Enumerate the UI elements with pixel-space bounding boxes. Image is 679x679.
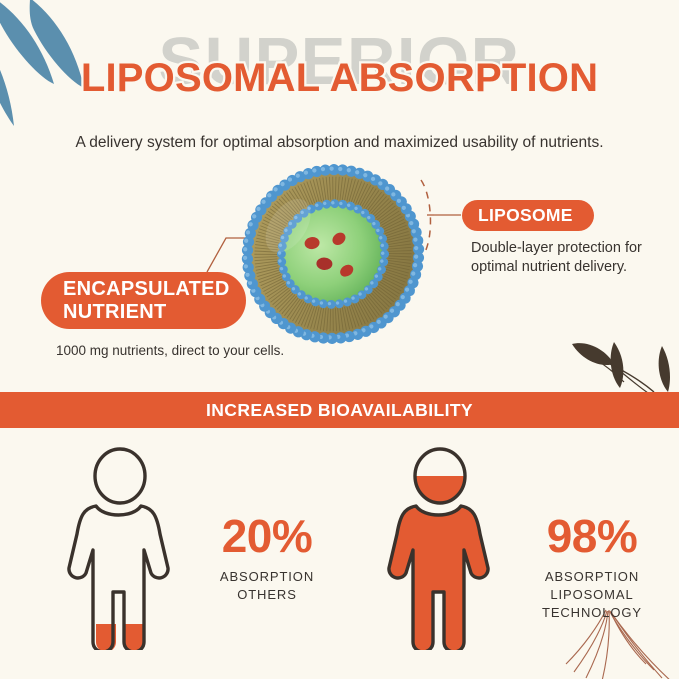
callout-pill-liposome: LIPOSOME (462, 200, 594, 231)
liposomal-absorption-infographic: SUPERIOR LIPOSOMAL ABSORPTION A delivery… (0, 0, 679, 679)
stat-value-liposomal: 98% (506, 510, 678, 562)
person-figure-liposomal (382, 446, 498, 650)
increased-bioavailability-banner: INCREASED BIOAVAILABILITY (0, 392, 679, 428)
stat-block-liposomal: 98% ABSORPTION LIPOSOMAL TECHNOLOGY (506, 510, 678, 622)
banner-label: INCREASED BIOAVAILABILITY (206, 400, 473, 421)
stat-caption-others: ABSORPTION OTHERS (188, 568, 346, 604)
stat-value-others: 20% (188, 510, 346, 562)
liposome-cutaway-illustration (237, 163, 429, 345)
callout-caption-liposome: Double-layer protection for optimal nutr… (471, 239, 661, 277)
stat-caption-liposomal: ABSORPTION LIPOSOMAL TECHNOLOGY (506, 568, 678, 622)
stat-block-others: 20% ABSORPTION OTHERS (188, 510, 346, 604)
callout-pill-label: LIPOSOME (478, 205, 573, 226)
callout-caption-encapsulated-nutrient: 1000 mg nutrients, direct to your cells. (56, 342, 356, 360)
person-figure-others (62, 446, 178, 650)
callout-pill-encapsulated-nutrient: ENCAPSULATED NUTRIENT (41, 272, 246, 329)
callout-pill-label: ENCAPSULATED NUTRIENT (63, 278, 230, 324)
absorption-comparison-section: 20% ABSORPTION OTHERS 98% ABSORPTION LIP… (0, 428, 679, 679)
